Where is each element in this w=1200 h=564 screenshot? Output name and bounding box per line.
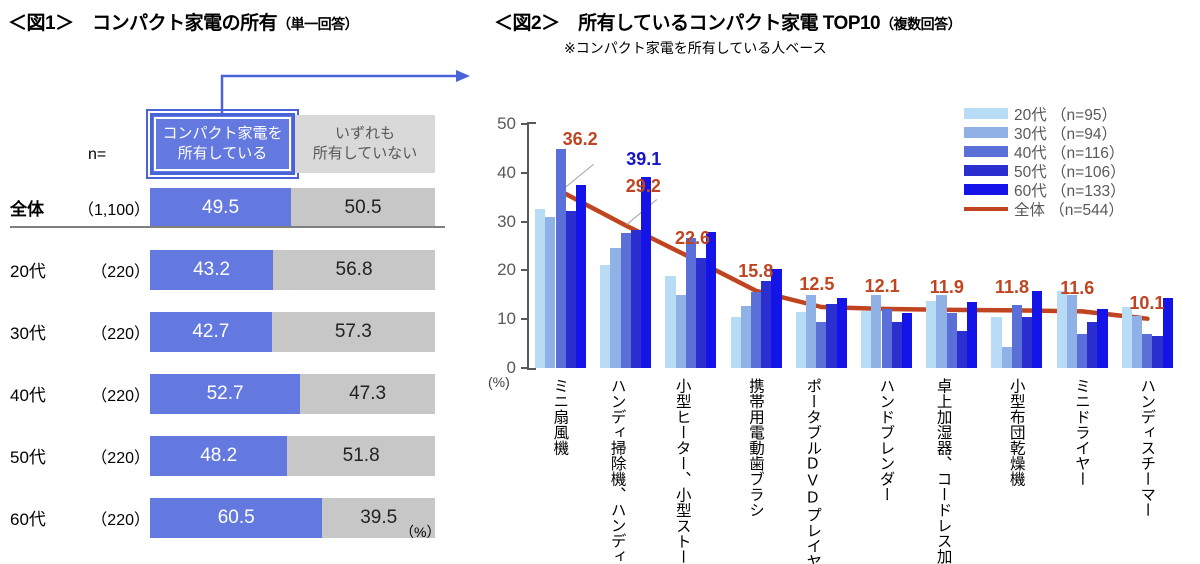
figure-2-title-sub: （複数回答） xyxy=(880,16,961,32)
total-data-label: 12.1 xyxy=(865,276,900,297)
x-axis-label-line: ハンドブレンダー xyxy=(878,378,894,502)
table-row: 50代（220）48.251.8 xyxy=(0,433,480,479)
bar-segment-none: 51.8 xyxy=(287,436,435,476)
row-sample-size: （220） xyxy=(78,320,150,344)
x-axis-label: ハンディ掃除機、ハンディクリーナー xyxy=(609,378,625,564)
bar xyxy=(1002,347,1012,368)
bar-segment-owns: 48.2 xyxy=(150,436,287,476)
y-axis-tick-label: 10 xyxy=(480,310,516,327)
bar-segment-none: 47.3 xyxy=(300,374,435,414)
bar xyxy=(882,309,892,368)
y-axis-tick-label: 20 xyxy=(480,261,516,278)
legend-color-swatch xyxy=(964,184,1008,195)
bar xyxy=(731,317,741,368)
bar xyxy=(741,306,751,368)
bar xyxy=(761,281,771,368)
bar xyxy=(806,295,816,368)
legend-line-swatch xyxy=(964,207,1008,211)
row-divider xyxy=(10,226,445,228)
total-data-label: 29.2 xyxy=(626,176,661,197)
bar xyxy=(556,149,566,368)
table-row: 20代（220）43.256.8 xyxy=(0,247,480,293)
table-row: 30代（220）42.757.3 xyxy=(0,309,480,355)
total-data-label: 22.6 xyxy=(675,228,710,249)
bar xyxy=(1132,316,1142,368)
x-axis-label-line: ポータブルDVD xyxy=(804,378,820,507)
bar xyxy=(1067,295,1077,368)
x-axis-label: ポータブルDVDプレイヤー xyxy=(804,378,820,564)
stacked-bar: 43.256.8 xyxy=(150,250,435,290)
total-data-label: 12.5 xyxy=(799,274,834,295)
bar-segment-owns: 43.2 xyxy=(150,250,273,290)
x-axis-label-line: ハンディ掃除機、 xyxy=(609,378,625,502)
total-data-label: 10.1 xyxy=(1129,293,1164,314)
bar-segment-owns: 49.5 xyxy=(150,188,291,228)
figure-2-percent-note: (%) xyxy=(488,374,510,390)
bar xyxy=(545,217,555,368)
bar xyxy=(631,230,641,368)
x-axis-label-line: 小型ヒーター、 xyxy=(674,378,690,487)
figure-2-title: ＜図2＞ 所有しているコンパクト家電 TOP10（複数回答） xyxy=(494,8,961,35)
bar-group xyxy=(789,124,854,368)
legend-item[interactable]: 50代 （n=106） xyxy=(964,161,1200,180)
bar xyxy=(576,185,586,368)
legend-item[interactable]: 30代 （n=94） xyxy=(964,123,1200,142)
total-data-label: 11.8 xyxy=(995,277,1029,298)
bar xyxy=(1122,307,1132,368)
table-row: 全体（1,100）49.550.5 xyxy=(0,185,480,231)
bar-group xyxy=(528,124,593,368)
total-data-label: 15.8 xyxy=(738,261,773,282)
bar xyxy=(751,292,761,368)
column-header-owns-outline xyxy=(146,109,299,179)
row-sample-size: （220） xyxy=(78,382,150,406)
legend-item[interactable]: 全体 （n=544） xyxy=(964,199,1200,218)
legend-item[interactable]: 60代 （n=133） xyxy=(964,180,1200,199)
series-data-label: 39.1 xyxy=(626,149,661,170)
figure-2-base-note: ※コンパクト家電を所有している人ベース xyxy=(564,38,827,58)
bar xyxy=(610,248,620,368)
x-axis-label-line: ハンディクリーナー xyxy=(609,502,625,564)
bar xyxy=(665,276,675,368)
x-axis-label: 卓上加湿器、コードレス加湿器 xyxy=(935,378,951,564)
column-header-owns-none: いずれも 所有していない xyxy=(295,115,435,173)
x-axis-label: 小型布団乾燥機 xyxy=(1008,378,1024,487)
x-axis-label-line: 小型ストーブ xyxy=(674,487,690,564)
bar xyxy=(1097,309,1107,368)
figure-1: ＜図1＞ コンパクト家電の所有（単一回答） コンパクト家電を 所有している いず… xyxy=(0,0,480,564)
bar xyxy=(1087,322,1097,368)
bar-segment-owns: 42.7 xyxy=(150,312,272,352)
table-row: 40代（220）52.747.3 xyxy=(0,371,480,417)
stacked-bar: 49.550.5 xyxy=(150,188,435,228)
bar xyxy=(926,301,936,368)
legend-color-swatch xyxy=(964,108,1008,119)
legend-color-swatch xyxy=(964,165,1008,176)
x-axis-label-line: 小型布団乾燥機 xyxy=(1008,378,1024,487)
bar xyxy=(1032,291,1042,368)
column-header-none-line2: 所有していない xyxy=(313,144,418,164)
legend-item[interactable]: 40代 （n=116） xyxy=(964,142,1200,161)
bar-segment-none: 57.3 xyxy=(272,312,435,352)
stacked-bar: 42.757.3 xyxy=(150,312,435,352)
chart-legend: 20代 （n=95）30代 （n=94）40代 （n=116）50代 （n=10… xyxy=(964,104,1200,218)
n-header-label: n= xyxy=(88,146,106,164)
x-axis-label: ハンディスチーマー xyxy=(1138,378,1154,518)
x-axis-label: 携帯用電動歯ブラシ xyxy=(747,378,763,518)
bar xyxy=(991,317,1001,368)
bar xyxy=(957,331,967,368)
figure-1-title: ＜図1＞ コンパクト家電の所有（単一回答） xyxy=(8,8,358,35)
y-axis-tick-label: 30 xyxy=(480,213,516,230)
bar xyxy=(706,232,716,368)
x-axis-label: ミニドライヤー xyxy=(1073,378,1089,487)
bar-segment-owns: 60.5 xyxy=(150,498,322,538)
bar xyxy=(600,265,610,368)
bar xyxy=(676,295,686,368)
bar-segment-none: 50.5 xyxy=(291,188,435,228)
bar xyxy=(1142,334,1152,368)
bar xyxy=(826,304,836,368)
x-axis-label-line: ミニドライヤー xyxy=(1073,378,1089,487)
figure-1-percent-note: （%） xyxy=(400,522,440,542)
bar xyxy=(796,312,806,368)
figure-1-title-main: ＜図1＞ コンパクト家電の所有 xyxy=(8,13,277,34)
x-axis-label: 小型ヒーター、小型ストーブ xyxy=(674,378,690,564)
x-axis-label-line: 卓上加湿器、 xyxy=(935,378,951,471)
x-axis-label-line: プレイヤー xyxy=(804,507,820,564)
total-data-label: 11.6 xyxy=(1060,278,1094,299)
bar xyxy=(947,313,957,368)
bar xyxy=(837,298,847,368)
stacked-bar: 52.747.3 xyxy=(150,374,435,414)
legend-color-swatch xyxy=(964,127,1008,138)
x-axis-label-line: コードレス加湿器 xyxy=(935,471,951,564)
bar xyxy=(566,211,576,368)
bar xyxy=(771,269,781,368)
bar xyxy=(1012,305,1022,368)
bar-group xyxy=(854,124,919,368)
x-axis-label-line: 携帯用電動歯ブラシ xyxy=(747,378,763,518)
total-data-label: 11.9 xyxy=(930,277,964,298)
x-axis-label: ミニ扇風機 xyxy=(552,378,568,456)
bar xyxy=(936,295,946,368)
bar xyxy=(621,233,631,368)
bar-segment-none: 56.8 xyxy=(273,250,435,290)
bar xyxy=(696,258,706,368)
bar xyxy=(861,311,871,368)
bar xyxy=(902,313,912,368)
figure-2: ＜図2＞ 所有しているコンパクト家電 TOP10（複数回答） ※コンパクト家電を… xyxy=(480,0,1200,564)
figure-1-title-sub: （単一回答） xyxy=(277,16,358,32)
x-axis-label-line: ミニ扇風機 xyxy=(552,378,568,456)
row-sample-size: （1,100） xyxy=(78,196,150,220)
bar xyxy=(967,302,977,368)
bar xyxy=(1077,334,1087,368)
bar xyxy=(641,177,651,368)
bar xyxy=(816,322,826,368)
row-sample-size: （220） xyxy=(78,258,150,282)
stacked-bar: 60.539.5 xyxy=(150,498,435,538)
bar-group xyxy=(724,124,789,368)
bar xyxy=(1022,317,1032,368)
x-axis-label: ハンドブレンダー xyxy=(878,378,894,502)
bar xyxy=(892,322,902,368)
figure-2-title-main: ＜図2＞ 所有しているコンパクト家電 TOP10 xyxy=(494,13,880,34)
stacked-bar: 48.251.8 xyxy=(150,436,435,476)
column-header-none-line1: いずれも xyxy=(335,124,395,144)
legend-color-swatch xyxy=(964,146,1008,157)
y-axis-tick-label: 50 xyxy=(480,115,516,132)
legend-item[interactable]: 20代 （n=95） xyxy=(964,104,1200,123)
bar xyxy=(686,238,696,368)
row-sample-size: （220） xyxy=(78,444,150,468)
bar xyxy=(871,295,881,368)
row-sample-size: （220） xyxy=(78,506,150,530)
bar xyxy=(1152,336,1162,368)
x-axis-label-line: ハンディスチーマー xyxy=(1138,378,1154,518)
bar xyxy=(1057,291,1067,368)
total-data-label: 36.2 xyxy=(563,129,598,150)
bar xyxy=(535,209,545,368)
legend-label: 全体 （n=544） xyxy=(1014,198,1124,220)
bar-segment-owns: 52.7 xyxy=(150,374,300,414)
y-axis-tick-label: 40 xyxy=(480,164,516,181)
